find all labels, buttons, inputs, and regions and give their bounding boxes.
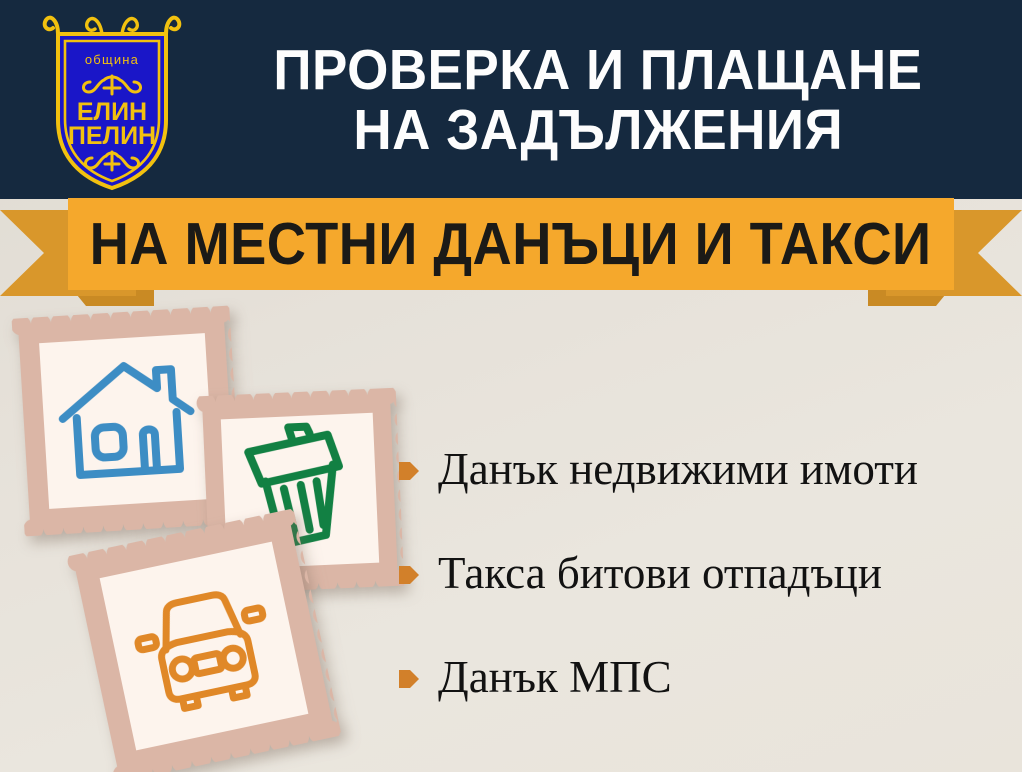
- list-item-label: Данък недвижими имоти: [438, 446, 918, 493]
- title-line-1: ПРОВЕРКА И ПЛАЩАНЕ: [273, 40, 922, 100]
- ribbon-band: НА МЕСТНИ ДАНЪЦИ И ТАКСИ: [68, 198, 954, 290]
- ribbon-label: НА МЕСТНИ ДАНЪЦИ И ТАКСИ: [90, 215, 932, 274]
- title-line-2: НА ЗАДЪЛЖЕНИЯ: [353, 100, 843, 160]
- list-item-label: Такса битови отпадъци: [438, 550, 882, 597]
- poster-canvas: община ЕЛИН ПЕЛИН ПРОВЕРКА И П: [0, 0, 1022, 772]
- list-item-label: Данък МПС: [438, 654, 672, 701]
- coat-of-arms: община ЕЛИН ПЕЛИН: [38, 8, 186, 194]
- subtitle-ribbon: НА МЕСТНИ ДАНЪЦИ И ТАКСИ: [0, 196, 1022, 314]
- stamp-card-car: [66, 508, 341, 772]
- list-item[interactable]: Данък недвижими имоти: [398, 418, 1008, 522]
- list-item[interactable]: Такса битови отпадъци: [398, 522, 1008, 626]
- page-title: ПРОВЕРКА И ПЛАЩАНЕ НА ЗАДЪЛЖЕНИЯ: [186, 14, 1010, 186]
- pentagon-arrow-bullet-icon: [398, 667, 420, 691]
- services-list: Данък недвижими имоти Такса битови отпад…: [398, 418, 1008, 730]
- list-item[interactable]: Данък МПС: [398, 626, 1008, 730]
- pentagon-arrow-bullet-icon: [398, 459, 420, 483]
- crest-name-line-2: ПЕЛИН: [68, 122, 156, 150]
- pentagon-arrow-bullet-icon: [398, 563, 420, 587]
- crest-municipality-word: община: [85, 52, 139, 67]
